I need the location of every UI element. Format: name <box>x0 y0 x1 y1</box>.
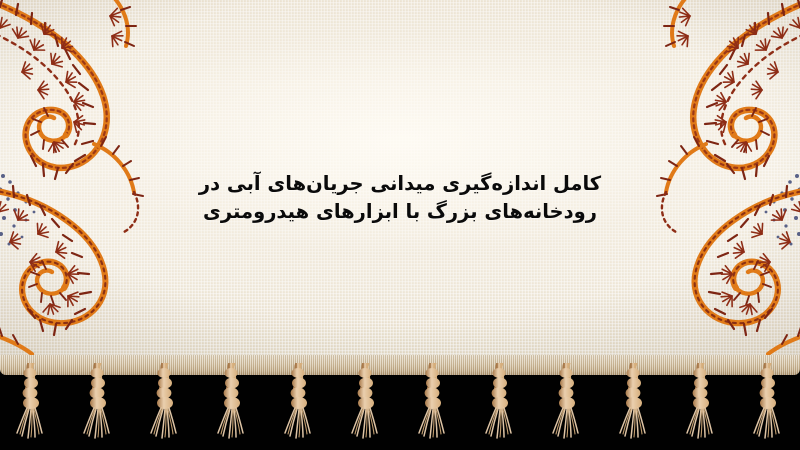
tassel <box>550 363 584 448</box>
tassel <box>282 363 316 448</box>
fringe-header-cord <box>0 355 800 375</box>
tassel <box>14 363 48 448</box>
tassel <box>684 363 718 448</box>
tassel <box>416 363 450 448</box>
tassel <box>215 363 249 448</box>
tassel <box>617 363 651 448</box>
tassel-fringe <box>0 355 800 450</box>
tassel <box>483 363 517 448</box>
tassel <box>81 363 115 448</box>
tassel <box>349 363 383 448</box>
tassel <box>751 363 785 448</box>
banner-canvas: کامل اندازه‌گیری میدانی جریان‌های آبی در… <box>0 0 800 450</box>
fabric-panel <box>0 0 800 372</box>
tassel <box>148 363 182 448</box>
